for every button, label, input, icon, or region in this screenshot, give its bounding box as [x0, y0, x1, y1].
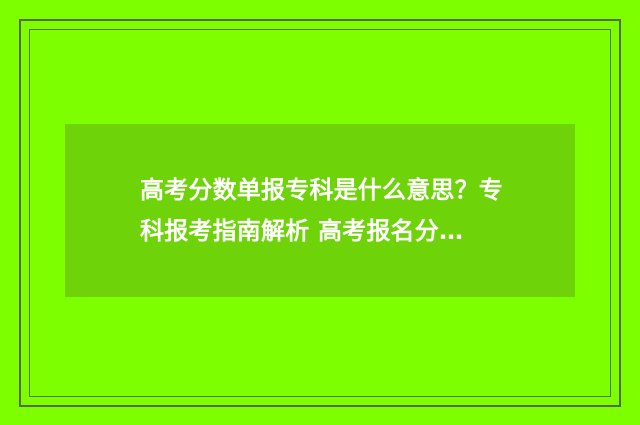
- page-title: 高考分数单报专科是什么意思？专 科报考指南解析 高考报名分…: [140, 170, 503, 252]
- thumbnail-canvas: 高考分数单报专科是什么意思？专 科报考指南解析 高考报名分…: [0, 0, 640, 425]
- headline-line-2: 科报考指南解析 高考报名分…: [140, 211, 503, 252]
- headline-line-1: 高考分数单报专科是什么意思？专: [140, 170, 503, 211]
- headline-panel[interactable]: 高考分数单报专科是什么意思？专 科报考指南解析 高考报名分…: [65, 124, 575, 297]
